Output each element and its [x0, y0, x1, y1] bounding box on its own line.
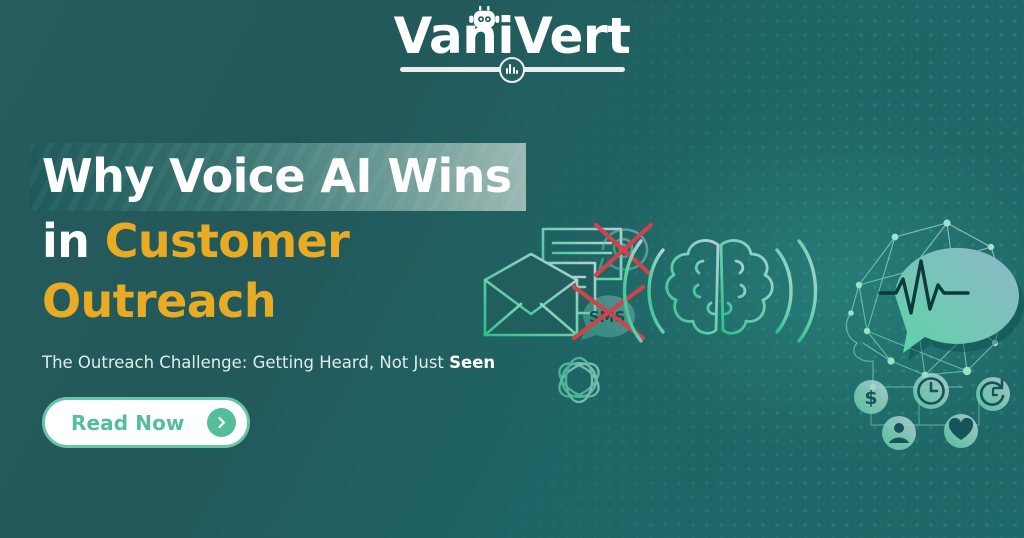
sound-wave-left-icon [624, 241, 663, 341]
atom-network-icon [554, 357, 605, 404]
heart-icon [944, 414, 978, 448]
brand-wordmark: VaniVert [394, 10, 631, 62]
hero-illustration: SMS [455, 175, 1024, 495]
headline-line-2-amber: Customer [105, 214, 350, 268]
speech-bubble-waveform-icon [880, 248, 1024, 361]
chevron-right-icon [207, 408, 236, 437]
logo-underline [400, 67, 625, 72]
brand-logo[interactable]: VaniVert [0, 10, 1024, 72]
promo-banner: VaniVert Why Voice AI Wins in Customer [0, 0, 1024, 538]
audio-wave-icon [499, 57, 525, 83]
blocked-sms-bubble-icon: SMS [574, 287, 643, 340]
subtitle-text: The Outreach Challenge: Getting Heard, N… [42, 353, 449, 372]
blocked-chat-bubble-icon [596, 225, 651, 275]
read-now-button[interactable]: Read Now [42, 397, 250, 448]
robot-head-icon [469, 5, 502, 31]
person-icon [882, 416, 916, 450]
dollar-icon: $ [854, 380, 888, 414]
clock-icon [913, 373, 949, 409]
clock-refresh-icon [976, 377, 1010, 411]
brain-icon [667, 238, 773, 334]
headline-line-2-white: in [42, 214, 105, 268]
sound-wave-right-icon [777, 241, 816, 341]
badge-cluster-icon: $ [854, 373, 1010, 450]
svg-text:$: $ [864, 387, 877, 409]
headline-line-1: Why Voice AI Wins [30, 143, 526, 211]
read-now-label: Read Now [71, 411, 185, 435]
